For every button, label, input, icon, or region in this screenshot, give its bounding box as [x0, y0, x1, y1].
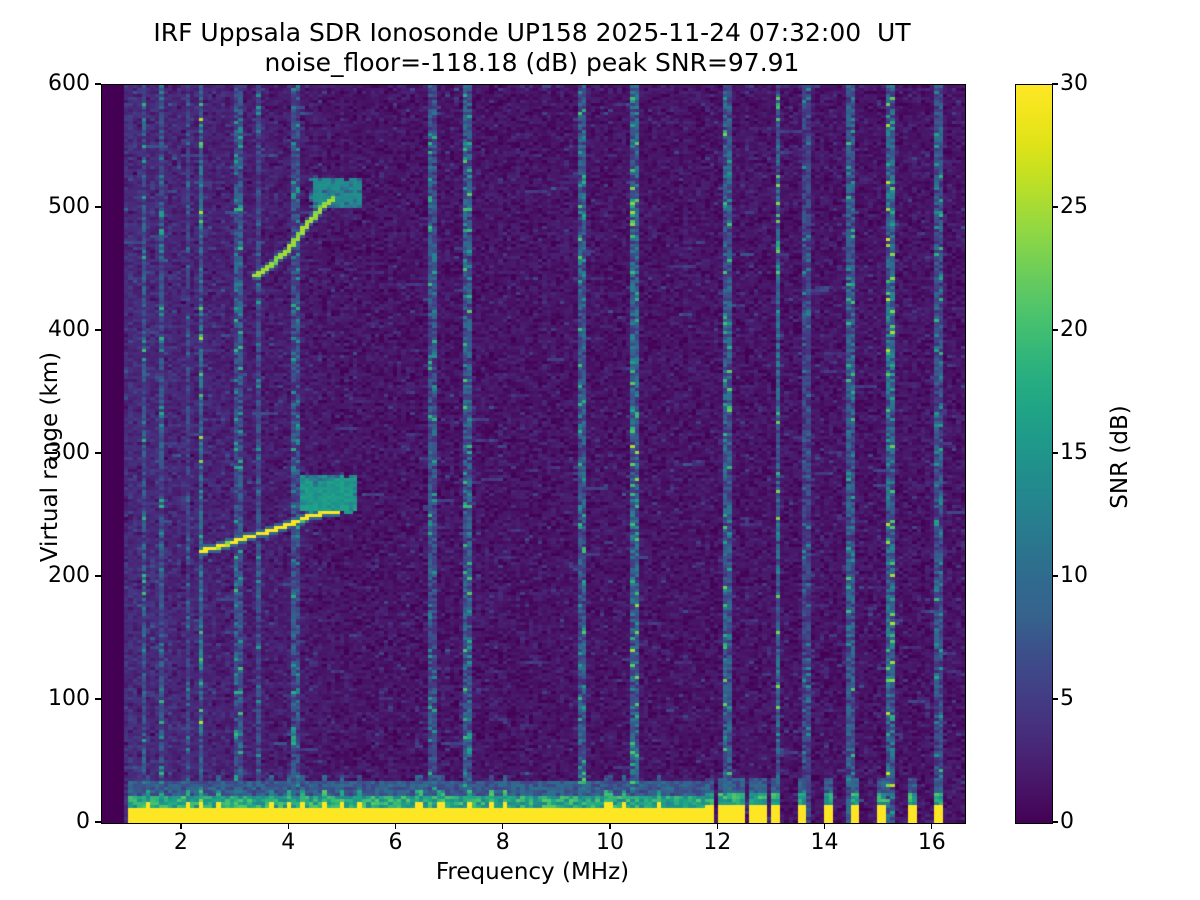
snr-colorbar — [1015, 84, 1053, 824]
x-tick-label: 8 — [473, 831, 533, 855]
title-line-1: IRF Uppsala SDR Ionosonde UP158 2025-11-… — [0, 18, 1064, 48]
colorbar-label: SNR (dB) — [1107, 257, 1133, 657]
y-tick — [95, 329, 101, 330]
x-tick — [824, 823, 825, 829]
x-tick — [502, 823, 503, 829]
x-tick-label: 6 — [365, 831, 425, 855]
y-tick-label: 500 — [20, 195, 90, 219]
colorbar-tick — [1052, 329, 1058, 330]
y-tick-label: 600 — [20, 72, 90, 96]
colorbar-tick — [1052, 575, 1058, 576]
ionogram-figure: IRF Uppsala SDR Ionosonde UP158 2025-11-… — [0, 0, 1200, 900]
y-axis-label: Virtual range (km) — [37, 257, 63, 657]
x-tick — [717, 823, 718, 829]
x-tick-label: 4 — [258, 831, 318, 855]
x-axis-label: Frequency (MHz) — [101, 859, 964, 885]
x-tick-label: 16 — [902, 831, 962, 855]
y-tick — [95, 575, 101, 576]
colorbar-tick — [1052, 83, 1058, 84]
y-tick — [95, 83, 101, 84]
x-tick-label: 12 — [687, 831, 747, 855]
colorbar-tick-label: 30 — [1060, 72, 1120, 96]
title-line-2: noise_floor=-118.18 (dB) peak SNR=97.91 — [0, 48, 1064, 78]
colorbar-tick-label: 5 — [1060, 687, 1120, 711]
ionogram-axes — [101, 84, 966, 824]
x-tick — [931, 823, 932, 829]
y-tick — [95, 452, 101, 453]
x-tick-label: 14 — [795, 831, 855, 855]
y-tick-label: 100 — [20, 687, 90, 711]
x-tick — [288, 823, 289, 829]
figure-title: IRF Uppsala SDR Ionosonde UP158 2025-11-… — [0, 18, 1064, 78]
colorbar-tick — [1052, 821, 1058, 822]
y-tick — [95, 821, 101, 822]
x-tick — [609, 823, 610, 829]
y-tick — [95, 206, 101, 207]
ionogram-heatmap — [102, 85, 965, 823]
x-tick-label: 10 — [580, 831, 640, 855]
colorbar-tick-label: 25 — [1060, 195, 1120, 219]
colorbar-tick-label: 0 — [1060, 810, 1120, 834]
colorbar-tick — [1052, 206, 1058, 207]
y-tick-label: 0 — [20, 810, 90, 834]
x-tick — [180, 823, 181, 829]
y-tick — [95, 698, 101, 699]
x-tick-label: 2 — [151, 831, 211, 855]
x-tick — [395, 823, 396, 829]
colorbar-tick — [1052, 698, 1058, 699]
colorbar-tick — [1052, 452, 1058, 453]
